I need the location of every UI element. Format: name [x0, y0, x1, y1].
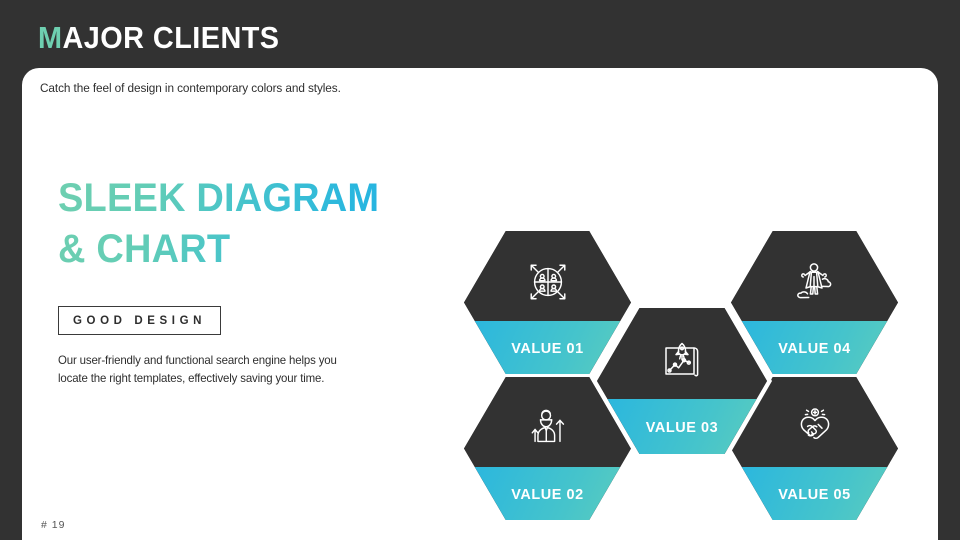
page-number: # 19: [41, 519, 65, 531]
good-design-badge: GOOD DESIGN: [58, 306, 221, 335]
body-copy: Our user-friendly and functional search …: [58, 352, 364, 387]
hexagon-diagram: VALUE 01 VALUE 02: [442, 163, 902, 483]
content-card: Catch the feel of design in contemporary…: [22, 68, 938, 540]
left-text-panel: SLEEK DIAGRAM & CHART GOOD DESIGN Our us…: [58, 173, 398, 387]
hexagon-label: VALUE 04: [735, 340, 894, 357]
hexagon-label: VALUE 02: [468, 486, 627, 503]
headline: SLEEK DIAGRAM & CHART: [58, 173, 400, 275]
superhero-cape-icon: [731, 245, 898, 319]
hexagon-label: VALUE 05: [735, 486, 894, 503]
hexagon-label: VALUE 01: [468, 340, 627, 357]
hexagon-value-01[interactable]: VALUE 01: [464, 231, 631, 374]
page-title-accent-letter: M: [38, 20, 62, 55]
hexagon-value-04[interactable]: VALUE 04: [731, 231, 898, 374]
global-team-network-icon: [464, 245, 631, 319]
page-title: MAJOR CLIENTS: [38, 20, 280, 56]
card-subtitle: Catch the feel of design in contemporary…: [40, 81, 341, 95]
page-title-rest: AJOR CLIENTS: [62, 20, 279, 55]
